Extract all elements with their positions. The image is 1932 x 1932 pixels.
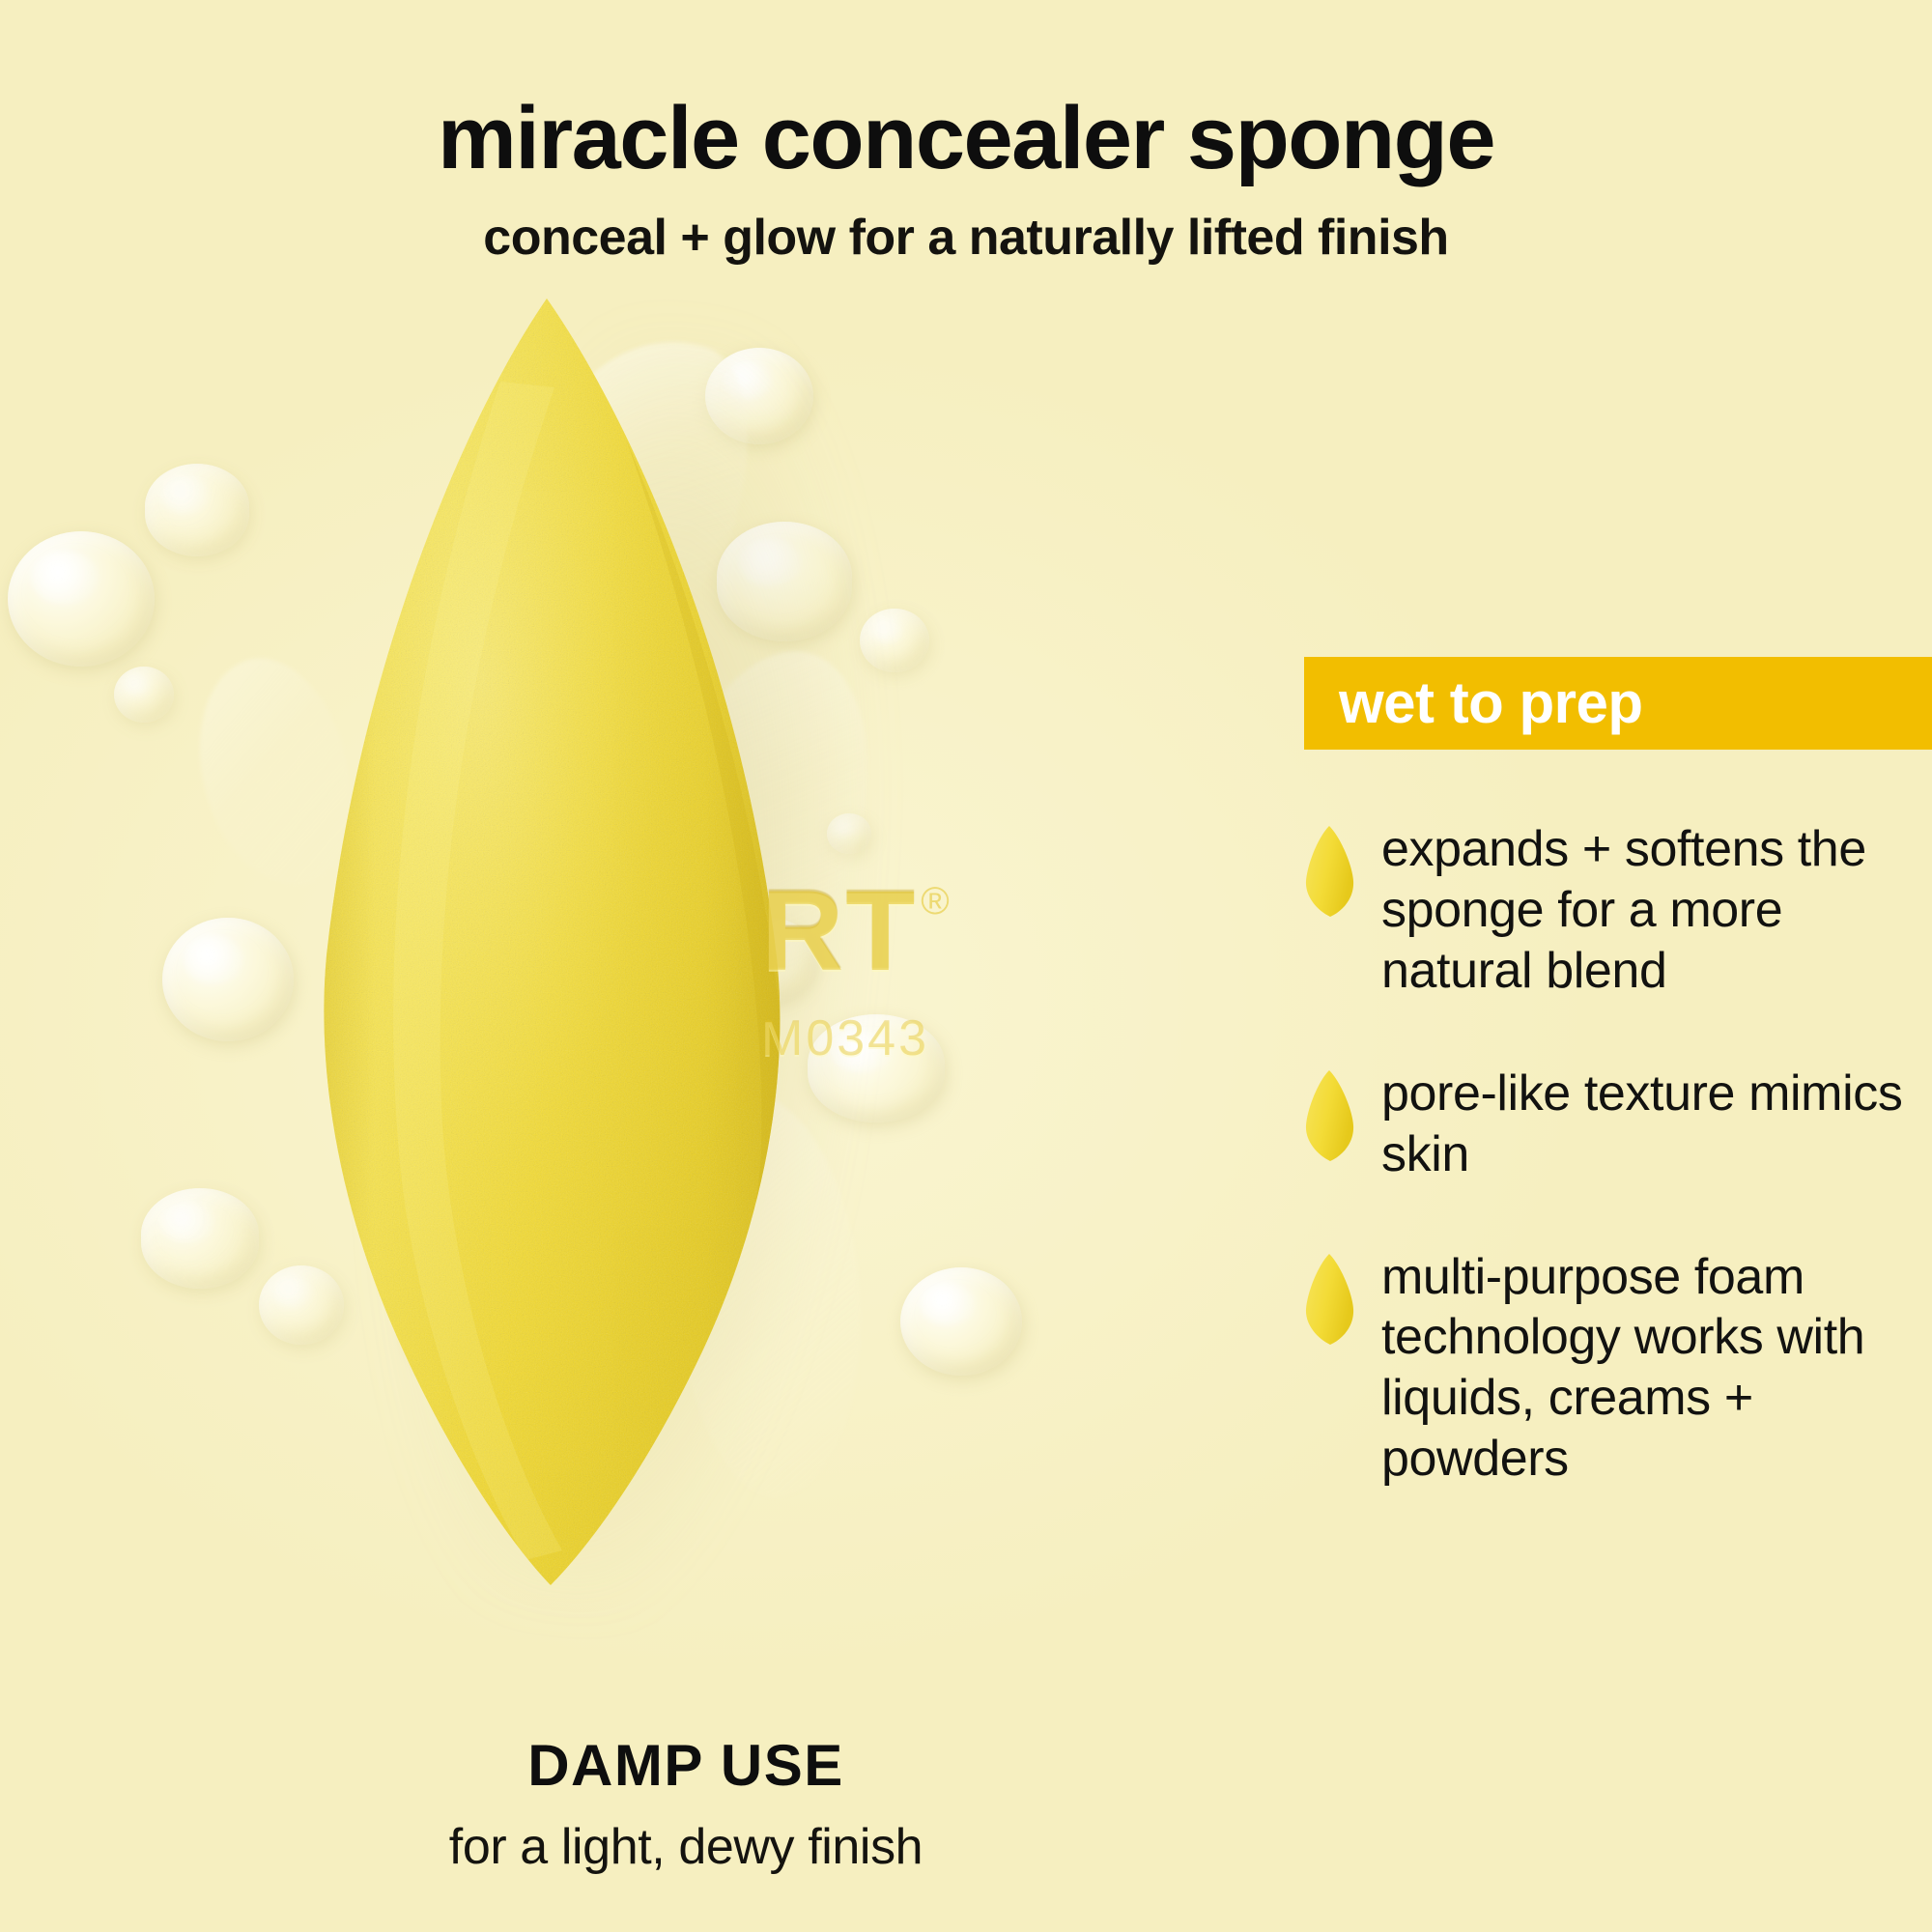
page-title: miracle concealer sponge [0,93,1932,185]
footer-block: DAMP USE for a light, dewy finish [0,1732,1372,1876]
list-item: expands + softens the sponge for a more … [1304,819,1932,1002]
info-panel: wet to prep e [1304,657,1932,1490]
benefit-list: expands + softens the sponge for a more … [1304,819,1932,1490]
registered-trademark-icon: ® [921,880,949,923]
wet-to-prep-banner: wet to prep [1304,657,1932,750]
water-droplet [114,667,174,723]
product-photo-stage: RT® M0343 [0,241,1140,1671]
sponge-bullet-icon [1304,1069,1354,1162]
sponge-bullet-icon [1304,1253,1354,1346]
water-droplet [900,1267,1022,1376]
banner-label: wet to prep [1339,674,1643,732]
water-droplet [8,531,155,667]
sponge-bullet-icon [1304,825,1354,918]
header-block: miracle concealer sponge conceal + glow … [0,93,1932,267]
water-droplet [145,464,249,556]
usage-mode-subtitle: for a light, dewy finish [0,1818,1372,1876]
water-droplet [162,918,294,1041]
benefit-text: expands + softens the sponge for a more … [1381,819,1932,1002]
benefit-text: multi-purpose foam technology works with… [1381,1247,1932,1491]
usage-mode-title: DAMP USE [0,1732,1372,1799]
benefit-text: pore-like texture mimics skin [1381,1064,1932,1185]
sponge-product-image: RT® M0343 [307,295,790,1589]
water-droplet [141,1188,259,1289]
product-infographic: miracle concealer sponge conceal + glow … [0,0,1932,1932]
list-item: pore-like texture mimics skin [1304,1064,1932,1185]
list-item: multi-purpose foam technology works with… [1304,1247,1932,1491]
